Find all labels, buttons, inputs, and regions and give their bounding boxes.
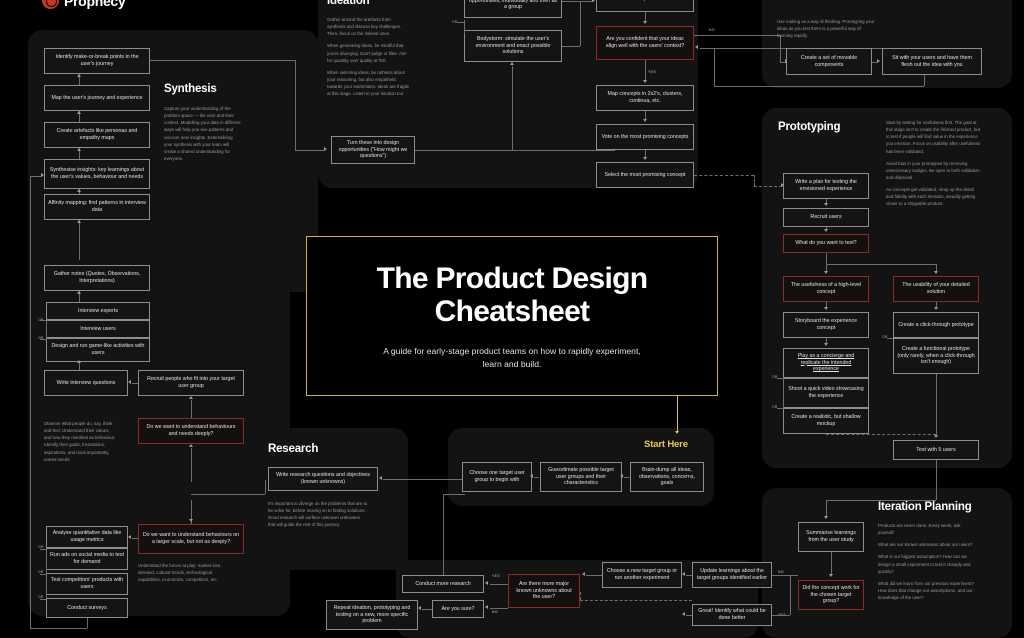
- box-prototyping-storyboard: Storyboard the experience concept: [783, 312, 869, 338]
- section-title-iteration: Iteration Planning: [878, 501, 972, 513]
- arrow-up-icon: [77, 74, 81, 77]
- box-conduct-surveys: Conduct surveys: [46, 598, 128, 618]
- connector: [534, 477, 539, 478]
- arrow-down-icon: [824, 307, 828, 310]
- connector: [46, 320, 47, 340]
- connector: [79, 220, 80, 260]
- section-body-iteration: Products are never done. Every week, ask…: [878, 522, 974, 606]
- box-did-concept-work: Did the concept work for the chosen targ…: [798, 580, 864, 610]
- section-body-synthesis: Capture your understanding of the proble…: [164, 105, 242, 167]
- section-body-cocreation: Use making as a way of thinking. Prototy…: [777, 18, 877, 44]
- box-cocreation-movable-components: Create a set of movable components: [786, 48, 872, 75]
- arrow-left-icon: [128, 535, 131, 539]
- box-prototyping-usability: The usability of your detailed solution: [893, 276, 979, 302]
- connector: [132, 538, 138, 539]
- connector: [490, 608, 508, 609]
- section-body-prototyping: Start by testing for usefulness first. T…: [886, 119, 982, 212]
- box-start-choose-target: Choose one target user group to begin wi…: [462, 462, 532, 492]
- connector: [686, 575, 692, 576]
- arrow-down-icon: [643, 80, 647, 83]
- connector: [490, 584, 508, 585]
- arrow-up-icon: [77, 189, 81, 192]
- box-prototyping-clickthrough: Create a click-through prototype: [893, 312, 979, 338]
- connector: [40, 339, 46, 340]
- box-analyse-quant: Analyse quantitative data like usage met…: [46, 526, 128, 548]
- brand-logo: Prophecy: [42, 0, 125, 9]
- connector: [831, 552, 832, 575]
- box-interview-experts: Interview experts: [46, 302, 150, 320]
- arrow-up-icon: [77, 291, 81, 294]
- connector: [783, 377, 784, 409]
- arrow-up-icon: [189, 444, 193, 447]
- connector: [754, 186, 782, 187]
- box-repeat-ideation: Repeat ideation, prototyping and testing…: [326, 600, 418, 630]
- arrow-left-icon: [582, 572, 585, 576]
- box-prototyping-plan: Write a plan for testing the envisioned …: [783, 173, 869, 199]
- box-start-braindump: Brain-dump all ideas, observations, conc…: [630, 462, 704, 492]
- connector: [580, 1, 581, 46]
- arrow-right-icon: [592, 0, 595, 2]
- box-synthesis-journeymap: Map the user's journey and experience: [44, 85, 150, 111]
- brand-name: Prophecy: [64, 0, 125, 9]
- box-ideation-present: Present concepts and discuss: [596, 0, 694, 12]
- connector: [714, 48, 715, 86]
- connector: [383, 479, 465, 480]
- connector: [40, 320, 46, 321]
- arrow-down-icon: [824, 229, 828, 232]
- no-label: NO: [778, 570, 784, 574]
- section-body-interviews: Observe what people do, say, think and f…: [44, 420, 116, 468]
- connector: [772, 575, 798, 576]
- connector: [562, 1, 594, 2]
- connector: [30, 176, 31, 424]
- connector: [40, 574, 46, 575]
- box-ideation-brainstorm: Brainstorm ideas to tackle these opportu…: [464, 0, 562, 18]
- start-here-label: Start Here: [644, 439, 688, 450]
- connector: [191, 494, 265, 495]
- no-label: NO: [709, 28, 715, 32]
- connector: [714, 86, 924, 87]
- page-title: The Product Design Cheatsheet: [307, 262, 717, 329]
- arrow-down-icon: [934, 271, 938, 274]
- arrow-left-icon: [682, 572, 685, 576]
- box-ideation-select: Select the most promising concept: [596, 162, 694, 188]
- box-synthesis-insights: Synthesise insights: key learnings about…: [44, 159, 150, 189]
- box-prototyping-concierge: Play as a concierge and replicate the in…: [783, 348, 869, 378]
- box-ideation-decision-confident: Are you confident that your ideas align …: [596, 26, 694, 60]
- arrow-right-icon: [324, 147, 327, 151]
- box-choose-new-target-group: Choose a new target group or run another…: [602, 562, 682, 588]
- arrow-left-icon: [620, 474, 623, 478]
- box-run-ads: Run ads on social media to test for dema…: [46, 548, 128, 570]
- section-title-synthesis: Synthesis: [164, 83, 217, 95]
- box-ideation-vote: Vote on the most promising concepts: [596, 124, 694, 150]
- arrow-up-icon: [77, 111, 81, 114]
- box-research-objectives: Write research questions and objectives …: [268, 467, 378, 491]
- connector: [443, 494, 465, 495]
- arrow-left-icon: [682, 612, 685, 616]
- connector: [191, 448, 192, 482]
- connector: [562, 46, 580, 47]
- box-are-you-sure: Are you sure?: [432, 600, 484, 618]
- connector: [826, 264, 936, 265]
- arrow-down-icon: [934, 435, 938, 438]
- box-synthesis-makeorbreak: Identify make-or-break points in the use…: [44, 48, 150, 74]
- connector: [924, 75, 925, 86]
- arrow-down-icon: [675, 431, 679, 434]
- arrow-right-icon: [877, 59, 880, 63]
- arrow-down-icon: [824, 516, 828, 519]
- connector: [150, 60, 295, 61]
- connector: [443, 494, 444, 575]
- connector: [686, 615, 692, 616]
- connector: [40, 549, 46, 550]
- arrow-left-icon: [695, 45, 698, 49]
- box-test-competitors: Test competitors' products with users: [46, 573, 128, 595]
- box-gather-notes: Gather notes (Quotes, Observations, Inte…: [44, 265, 150, 291]
- connector: [132, 383, 138, 384]
- connector: [826, 500, 827, 517]
- connector: [645, 60, 646, 81]
- connector: [30, 628, 87, 629]
- box-prototyping-recruit: Recruit users: [783, 208, 869, 227]
- yes-label: YES: [648, 70, 656, 74]
- box-write-interview-questions: Write interview questions: [44, 370, 128, 396]
- prophecy-logo-mark-icon: [42, 0, 59, 9]
- arrow-down-icon: [643, 119, 647, 122]
- no-label: NO: [492, 610, 498, 614]
- hero-title-card: The Product Design Cheatsheet A guide fo…: [306, 236, 718, 396]
- arrow-left-icon: [530, 474, 533, 478]
- arrow-down-icon: [829, 574, 833, 577]
- connector: [457, 22, 464, 23]
- connector: [694, 175, 754, 176]
- connector: [887, 338, 893, 339]
- box-recruit-people: Recruit people who fit into your target …: [138, 370, 244, 396]
- box-prototyping-usefulness: The usefulness of a high-level concept: [783, 276, 869, 302]
- box-synthesis-affinity: Affinity mapping: find patterns in inter…: [44, 194, 150, 220]
- box-prototyping-test5: Test with 5 users: [893, 440, 979, 460]
- arrow-left-icon: [418, 606, 421, 610]
- connector: [191, 400, 192, 418]
- box-ideation-design-opportunities: Turn these into design opportunities ("H…: [331, 136, 415, 164]
- connector: [694, 35, 780, 36]
- connector-gold: [677, 394, 678, 432]
- connector: [87, 618, 88, 628]
- section-title-research: Research: [268, 443, 318, 455]
- box-conduct-more-research: Conduct more research: [402, 575, 484, 593]
- box-prototyping-what-to-test: What do you want to test?: [783, 234, 869, 253]
- connector: [936, 374, 937, 436]
- connector: [936, 460, 937, 500]
- arrow-left-icon: [128, 380, 131, 384]
- connector: [464, 20, 465, 34]
- connector: [754, 175, 755, 186]
- section-body-research: It's important to diverge on the problem…: [268, 500, 368, 534]
- yes-label: YES: [492, 574, 500, 578]
- box-prototyping-mockup: Create a realistic, but shallow mockup: [783, 408, 869, 434]
- arrow-right-icon: [41, 173, 44, 177]
- connector: [826, 434, 936, 435]
- box-decision-understand-deeply: Do we want to understand behaviours and …: [138, 418, 244, 444]
- connector: [46, 548, 47, 598]
- arrow-left-icon: [485, 581, 488, 585]
- arrow-down-icon: [824, 343, 828, 346]
- section-body-quant: Understand the forces at play: market si…: [138, 562, 232, 588]
- arrow-down-icon: [934, 307, 938, 310]
- connector: [826, 253, 827, 272]
- box-prototyping-functional: Create a functional prototype (only rare…: [893, 338, 979, 374]
- connector: [777, 408, 783, 409]
- connector: [295, 60, 296, 150]
- arrow-down-icon: [643, 157, 647, 160]
- box-start-guesstimate: Guesstimate possible target user groups …: [540, 462, 622, 492]
- connector: [512, 66, 513, 150]
- connector: [580, 600, 692, 601]
- box-game-like-activities: Design and run game-like activities with…: [46, 338, 150, 362]
- box-update-learnings: Update learnings about the target groups…: [692, 562, 772, 588]
- box-cocreation-flesh-out: Sit with your users and have them flesh …: [882, 48, 982, 75]
- cheatsheet-canvas: Prophecy Synthesis Capture your understa…: [0, 0, 1024, 630]
- connector: [586, 575, 602, 576]
- box-synthesis-artefacts: Create artefacts like personas and empat…: [44, 122, 150, 148]
- box-ideation-map-concepts: Map concepts in 2x2's, clusters, continu…: [596, 85, 694, 111]
- connector: [40, 599, 46, 600]
- arrow-up-icon: [77, 360, 81, 363]
- connector: [422, 609, 432, 610]
- connector: [30, 424, 31, 628]
- section-title-ideation: Ideation: [327, 0, 370, 7]
- arrow-left-icon: [379, 476, 382, 480]
- arrow-up-icon: [77, 148, 81, 151]
- arrow-up-icon: [510, 62, 514, 65]
- arrow-down-icon: [824, 271, 828, 274]
- arrow-up-icon: [189, 396, 193, 399]
- box-summarise-learnings: Summarise learnings from the user study: [798, 522, 864, 552]
- box-ideation-bodystorm: Bodystorm: simulate the user's environme…: [464, 30, 562, 62]
- section-title-prototyping: Prototyping: [778, 121, 840, 133]
- connector: [580, 592, 581, 600]
- connector: [295, 150, 325, 151]
- arrow-down-icon: [643, 21, 647, 24]
- section-body-ideation: Gather around the artefacts from synthes…: [327, 16, 409, 102]
- box-decision-larger-scale: Do we want to understand behaviours on a…: [138, 524, 244, 554]
- box-interview-users: Interview users: [46, 320, 150, 338]
- connector: [265, 480, 266, 494]
- connector: [790, 575, 791, 615]
- box-prototyping-video: Shoot a quick video showcasing the exper…: [783, 378, 869, 408]
- arrow-up-icon: [77, 220, 81, 223]
- box-great-identify: Great! Identify what could be done bette…: [692, 604, 772, 626]
- connector: [415, 150, 615, 151]
- page-subtitle: A guide for early-stage product teams on…: [382, 345, 642, 371]
- connector: [624, 477, 629, 478]
- arrow-down-icon: [824, 203, 828, 206]
- box-more-known-unknowns: Are there more major known unknowns abou…: [508, 574, 580, 608]
- arrow-down-icon: [189, 519, 193, 522]
- connector: [777, 378, 783, 379]
- arrow-left-icon: [485, 605, 488, 609]
- connector: [772, 615, 790, 616]
